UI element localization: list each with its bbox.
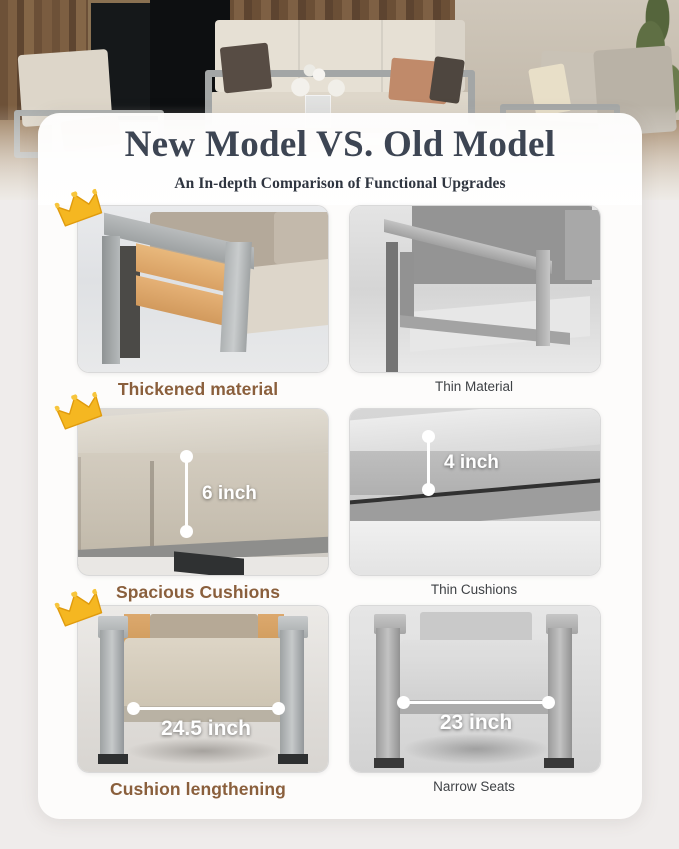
comparison-card: New Model VS. Old Model An In-depth Comp… bbox=[38, 113, 642, 819]
dimension-dot-left bbox=[127, 702, 140, 715]
page-title: New Model VS. Old Model bbox=[38, 123, 642, 166]
pillow-dark bbox=[220, 43, 273, 94]
backrest-side-panel bbox=[565, 210, 601, 280]
new-wide-seat-photo: 24.5 inch bbox=[77, 605, 329, 773]
dimension-dot-top bbox=[180, 450, 193, 463]
comparison-row-cushion-thickness: 6 inch 4 inch Spacious Cushions Thin bbox=[38, 408, 642, 611]
dimension-dot-right bbox=[542, 696, 555, 709]
leg-right bbox=[548, 628, 572, 762]
frame-post bbox=[536, 250, 550, 346]
dimension-dot-left bbox=[397, 696, 410, 709]
frame-leg bbox=[386, 242, 398, 372]
cushion-backrest-side bbox=[274, 212, 329, 264]
comparison-row-material: Thickened material Thin Material bbox=[38, 205, 642, 408]
foot-right bbox=[278, 754, 308, 764]
armrest-post bbox=[220, 242, 252, 352]
measurement-label-new: 24.5 inch bbox=[161, 717, 251, 741]
floor-shadow bbox=[404, 734, 548, 764]
dimension-line bbox=[402, 701, 550, 704]
pillow-brown bbox=[429, 56, 465, 104]
dimension-dot-bottom bbox=[180, 525, 193, 538]
caption-old-seat: Narrow Seats bbox=[349, 779, 599, 794]
seat-cushion bbox=[400, 640, 548, 704]
caption-new-seat: Cushion lengthening bbox=[73, 779, 323, 800]
foot-right bbox=[544, 758, 574, 768]
floor bbox=[349, 521, 601, 576]
old-thin-cushion-photo: 4 inch bbox=[349, 408, 601, 576]
dimension-line bbox=[132, 707, 280, 710]
cushion-seam-edge bbox=[78, 457, 81, 551]
old-narrow-seat-photo: 23 inch bbox=[349, 605, 601, 773]
leg-right bbox=[280, 630, 304, 758]
measurement-label-new: 6 inch bbox=[202, 483, 257, 505]
dimension-dot-right bbox=[272, 702, 285, 715]
leg-left bbox=[100, 630, 124, 758]
caption-new-material: Thickened material bbox=[73, 379, 323, 400]
leg-left bbox=[376, 628, 400, 762]
seat-cushion bbox=[124, 638, 284, 710]
foot-left bbox=[98, 754, 128, 764]
caption-old-material: Thin Material bbox=[349, 379, 599, 394]
foot-left bbox=[374, 758, 404, 768]
floor-shadow bbox=[128, 738, 278, 764]
new-armrest-thick-wood-frame-photo bbox=[77, 205, 329, 373]
new-thick-cushion-photo: 6 inch bbox=[77, 408, 329, 576]
cushion-seam bbox=[150, 461, 154, 551]
comparison-row-seat-width: 24.5 inch 23 bbox=[38, 605, 642, 808]
dimension-dot-bottom bbox=[422, 483, 435, 496]
caption-old-cushion: Thin Cushions bbox=[349, 582, 599, 597]
old-armrest-thin-frame-photo bbox=[349, 205, 601, 373]
page-subtitle: An In-depth Comparison of Functional Upg… bbox=[38, 175, 642, 193]
dimension-dot-top bbox=[422, 430, 435, 443]
caption-new-cushion: Spacious Cushions bbox=[73, 582, 323, 603]
measurement-label-old: 23 inch bbox=[440, 711, 512, 735]
armrest-leg bbox=[102, 236, 120, 364]
measurement-label-old: 4 inch bbox=[444, 452, 499, 474]
dimension-line bbox=[185, 455, 188, 533]
